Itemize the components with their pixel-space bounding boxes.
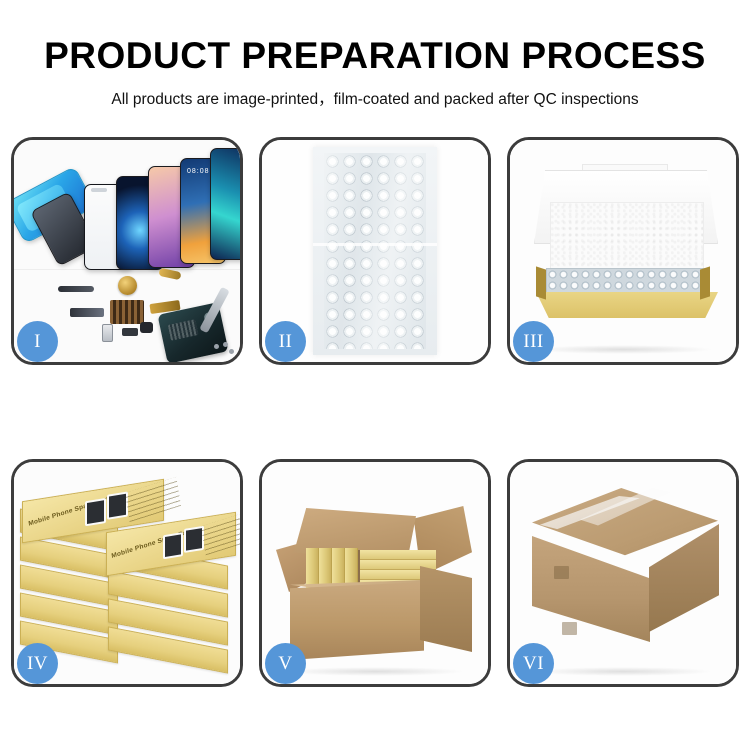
speaker-part — [122, 328, 138, 336]
carton-front-panel — [290, 582, 424, 660]
pouch-seam — [313, 243, 437, 246]
process-step-panel-1: 08:08 — [11, 137, 243, 365]
carton-shadow — [533, 667, 714, 676]
process-step-panel-3: III — [507, 137, 739, 365]
phone-clock-label: 08:08 — [187, 168, 210, 175]
yellow-box-horizontal — [360, 550, 436, 560]
step-badge-1: I — [17, 321, 58, 362]
process-steps-grid: 08:08 — [11, 137, 739, 689]
flex-cable-strip — [58, 286, 94, 292]
screw-icon — [214, 344, 219, 349]
bubble-wrap-pouch — [313, 147, 437, 355]
page-subtitle: All products are image-printed，film-coat… — [0, 76, 750, 109]
box-window-left — [163, 532, 183, 559]
product-preparation-infographic: PRODUCT PREPARATION PROCESS All products… — [0, 0, 750, 750]
step-badge-5: V — [265, 643, 306, 684]
bubble-pattern — [324, 153, 426, 349]
box-shadow — [533, 345, 714, 354]
page-title: PRODUCT PREPARATION PROCESS — [0, 0, 750, 76]
camera-module-part — [140, 322, 153, 333]
screw-icon — [223, 342, 228, 347]
box-front-panel — [536, 292, 718, 318]
screws-group — [214, 342, 236, 354]
header: PRODUCT PREPARATION PROCESS All products… — [0, 0, 750, 109]
battery-part — [102, 324, 113, 342]
carton-handle-mark-bottom — [562, 622, 577, 635]
box-left-edge — [536, 266, 546, 299]
vibration-motor-part — [118, 276, 137, 295]
flex-cable-part — [70, 308, 104, 317]
carton-shadow — [285, 667, 466, 676]
carton-handle-mark-top — [554, 566, 569, 579]
process-step-panel-5: V — [259, 459, 491, 687]
connector-grid-part — [110, 300, 144, 324]
screw-icon — [229, 349, 234, 354]
box-window-left — [85, 498, 106, 526]
step-badge-2: II — [265, 321, 306, 362]
process-step-panel-4: Mobile Phone Spare Parts Mobile Phone Sp… — [11, 459, 243, 687]
white-foam-pad — [550, 202, 704, 270]
step-badge-6: VI — [513, 643, 554, 684]
box-stack: Mobile Phone Spare Parts Mobile Phone Sp… — [20, 484, 240, 674]
step-badge-3: III — [513, 321, 554, 362]
process-step-panel-2: II — [259, 137, 491, 365]
step-badge-4: IV — [17, 643, 58, 684]
teal-wave-phone — [210, 148, 240, 260]
process-step-panel-6: VI — [507, 459, 739, 687]
box-right-edge — [700, 266, 710, 299]
carton-side-panel — [420, 566, 472, 652]
